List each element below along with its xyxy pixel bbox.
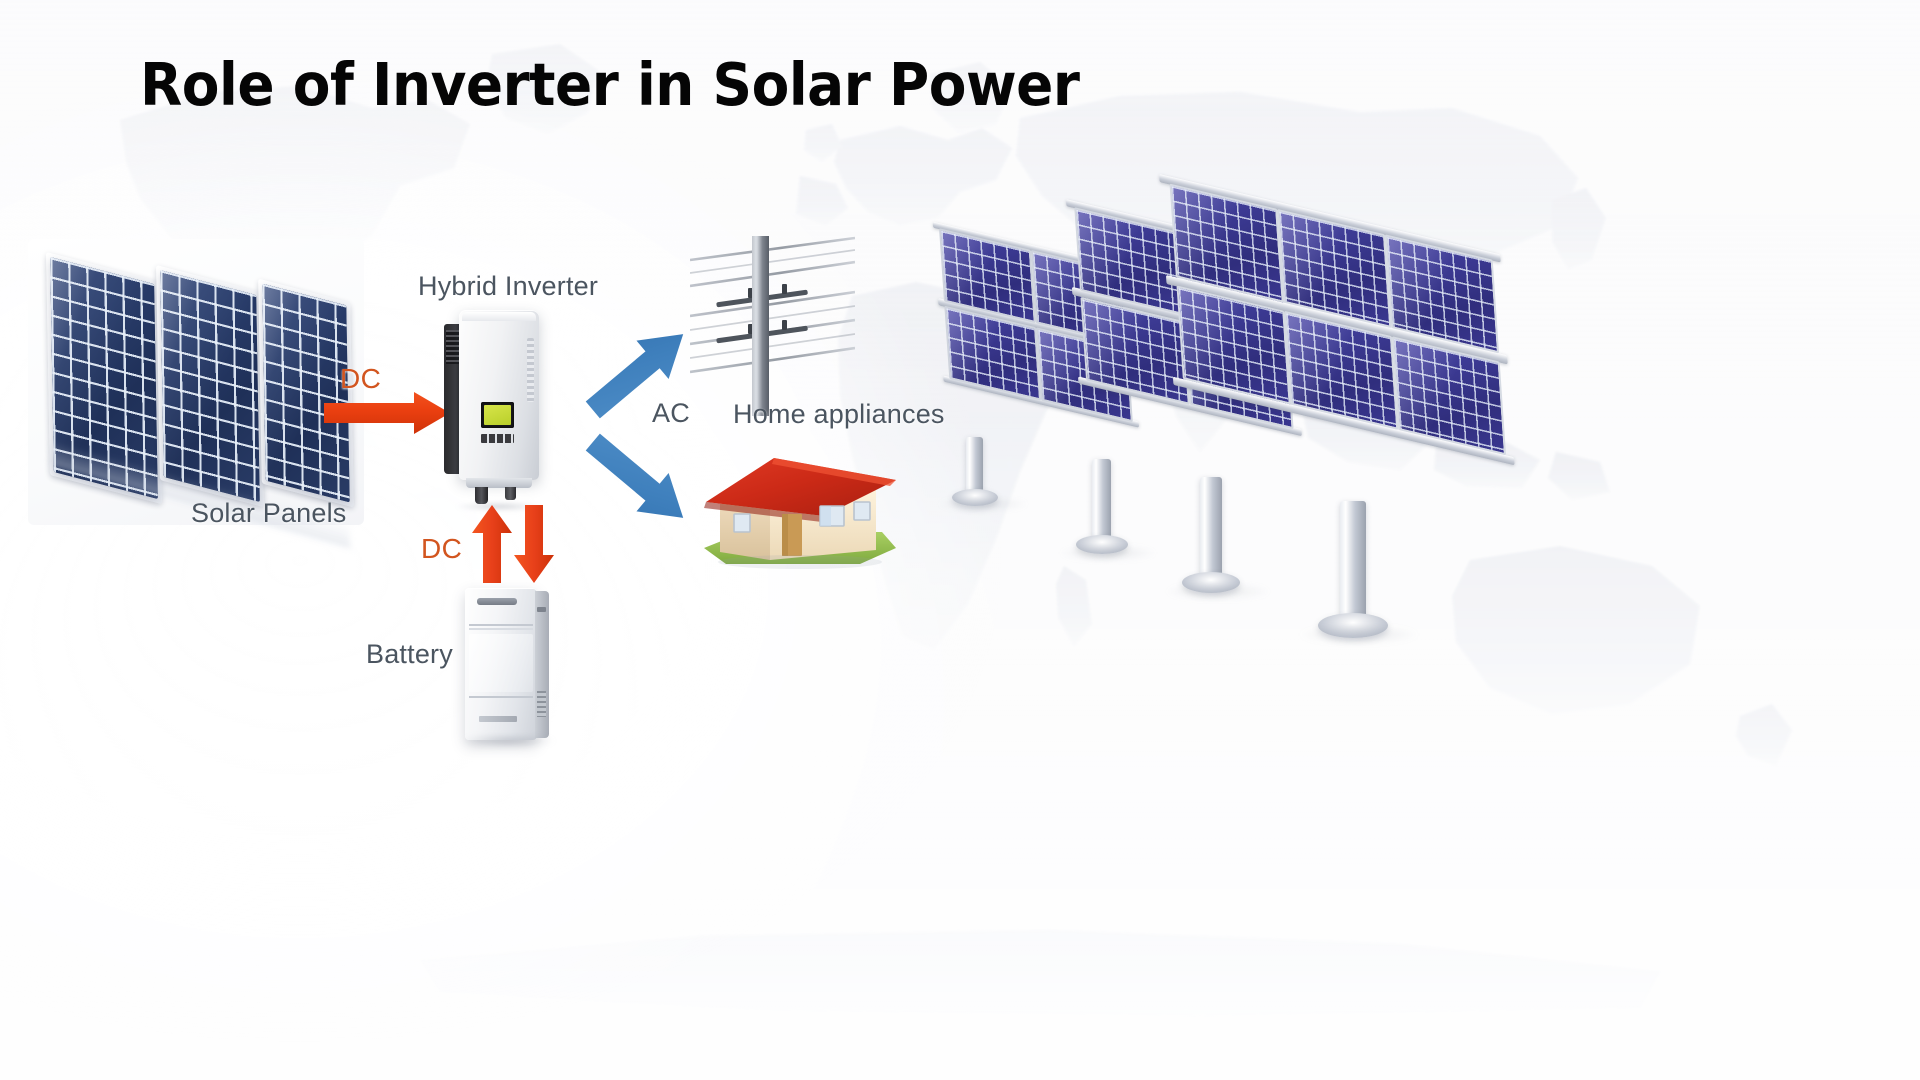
solar-panel-2 [160, 270, 260, 502]
poster-canvas: Role of Inverter in Solar Power [0, 0, 1920, 1080]
inverter-top-bevel [462, 312, 536, 321]
label-solar-panels: Solar Panels [191, 498, 347, 529]
battery-side-fins [537, 691, 546, 717]
array-shadow-2 [1060, 545, 1156, 561]
label-battery: Battery [366, 639, 453, 670]
battery-seam-1 [469, 624, 533, 626]
hybrid-inverter-device [444, 306, 548, 506]
solar-panel-stack [32, 245, 362, 520]
battery-brand-strip [479, 716, 517, 722]
dc-arrow-panels-to-inverter [322, 390, 454, 436]
inverter-button-row[interactable] [481, 434, 514, 443]
battery-top-handle [477, 598, 517, 605]
battery-front-panel [469, 634, 533, 692]
ac-arrow-to-home [573, 425, 703, 535]
label-dc-to-battery: DC [421, 533, 462, 565]
battery-side-vent [537, 607, 546, 612]
battery-side-face [535, 591, 549, 738]
inverter-ac-connector [505, 487, 516, 500]
battery-body [465, 588, 537, 740]
array-shadow-1 [938, 497, 1028, 511]
array-shadow-3 [1166, 583, 1270, 600]
ground-mounted-solar-array-photo [930, 215, 1490, 645]
array-shadow-4 [1300, 625, 1418, 644]
home-appliances-house [700, 440, 900, 570]
inverter-side-vent [527, 338, 534, 402]
inverter-body [459, 310, 539, 480]
utility-grid-pole [690, 236, 855, 416]
inverter-lcd-glow [484, 405, 511, 425]
label-ac: AC [652, 398, 690, 429]
page-title: Role of Inverter in Solar Power [140, 53, 1080, 117]
array-cluster-front [1169, 183, 1502, 460]
label-hybrid-inverter: Hybrid Inverter [418, 271, 598, 302]
battery-shadow [461, 736, 555, 748]
battery-seam-3 [469, 696, 533, 698]
inverter-lcd-screen [481, 402, 514, 428]
array-post-4 [1340, 501, 1366, 623]
array-post-3 [1200, 477, 1222, 581]
array-post-1 [966, 437, 983, 495]
solar-panels-illustration [32, 245, 362, 520]
dc-arrow-inverter-to-battery [512, 503, 556, 585]
label-home-appliances: Home appliances [733, 399, 945, 430]
battery-storage-unit [465, 588, 551, 746]
battery-seam-2 [469, 628, 533, 630]
array-post-2 [1092, 459, 1111, 543]
dc-arrow-battery-to-inverter [470, 503, 514, 585]
